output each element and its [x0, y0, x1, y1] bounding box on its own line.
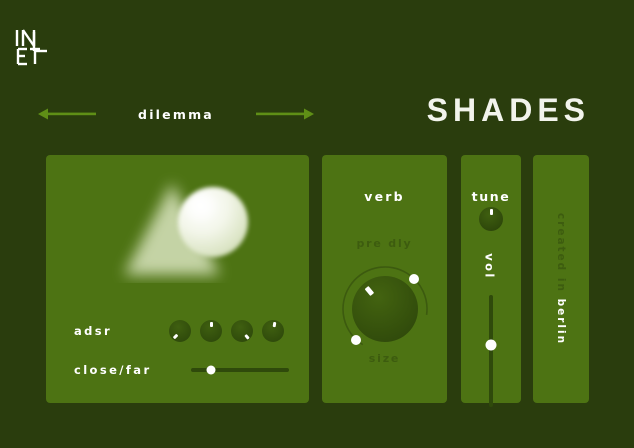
sphere-shape [178, 187, 248, 257]
verb-panel: verb pre dly size [322, 155, 447, 403]
info-panel: created in berlin [533, 155, 589, 403]
knob-indicator [210, 322, 213, 327]
close-far-slider[interactable] [191, 368, 289, 372]
slider-handle[interactable] [486, 340, 497, 351]
visualizer [46, 155, 309, 283]
size-handle[interactable] [351, 335, 361, 345]
preset-name[interactable]: dilemma [138, 107, 214, 122]
vol-label: vol [482, 253, 501, 280]
knob-indicator [172, 333, 178, 339]
verb-ring [335, 259, 435, 359]
berlin-text: berlin [555, 299, 567, 346]
adsr-knob-group [169, 320, 284, 342]
created-in-text: created in [555, 213, 567, 293]
tune-label: tune [461, 189, 521, 204]
arrow-right-icon[interactable] [256, 107, 314, 121]
inlet-logo-mark [14, 26, 58, 70]
page-title: SHADES [427, 92, 590, 129]
knob-indicator [490, 209, 493, 215]
adsr-label: adsr [74, 324, 112, 338]
adsr-knob-sustain[interactable] [231, 320, 253, 342]
knob-indicator [272, 321, 276, 326]
adsr-knob-attack[interactable] [169, 320, 191, 342]
pre-delay-label: pre dly [322, 237, 447, 250]
knob-indicator [244, 333, 250, 339]
created-in-berlin: created in berlin [555, 213, 567, 345]
knob-indicator [365, 286, 375, 296]
close-far-label: close/far [74, 363, 152, 377]
close-far-row: close/far [74, 363, 289, 377]
adsr-row: adsr [74, 320, 284, 342]
adsr-knob-decay[interactable] [200, 320, 222, 342]
tune-knob[interactable] [479, 207, 503, 231]
slider-handle[interactable] [206, 366, 215, 375]
preset-navigation: dilemma [38, 100, 314, 128]
main-panel: adsr close/far [46, 155, 309, 403]
adsr-knob-release[interactable] [262, 320, 284, 342]
verb-main-knob[interactable] [352, 276, 418, 342]
vol-slider[interactable] [489, 295, 493, 407]
pre-delay-handle[interactable] [409, 274, 419, 284]
size-label: size [322, 352, 447, 365]
inlet-logo[interactable] [14, 26, 58, 70]
arrow-left-icon[interactable] [38, 107, 96, 121]
verb-title: verb [322, 189, 447, 204]
tune-panel: tune vol [461, 155, 521, 403]
